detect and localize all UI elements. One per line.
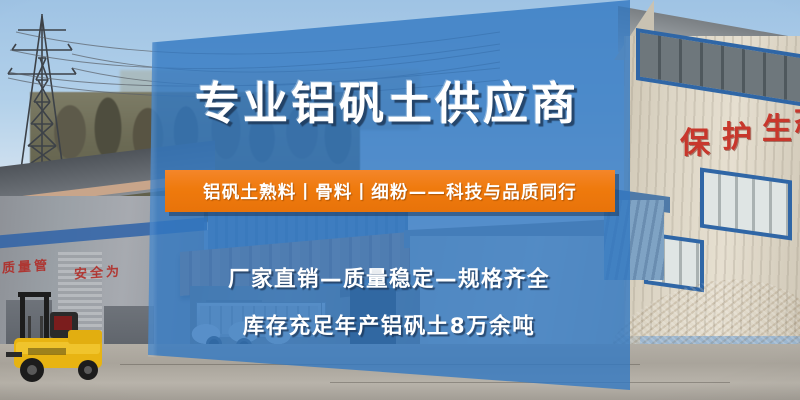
- banner-content: 专业铝矾土供应商 铝矾土熟料丨骨料丨细粉——科技与品质同行 厂家直销—质量稳定—…: [0, 0, 800, 400]
- ribbon-label: 铝矾土熟料丨骨料丨细粉——科技与品质同行: [203, 179, 577, 204]
- orange-ribbon: 铝矾土熟料丨骨料丨细粉——科技与品质同行: [165, 170, 615, 212]
- banner-subheadings: 厂家直销—质量稳定—规格齐全 库存充足年产铝矾土8万余吨: [152, 262, 626, 340]
- banner-subline-1: 厂家直销—质量稳定—规格齐全: [152, 262, 626, 293]
- banner-headline: 专业铝矾土供应商: [152, 80, 622, 127]
- banner-subline-2: 库存充足年产铝矾土8万余吨: [152, 309, 626, 340]
